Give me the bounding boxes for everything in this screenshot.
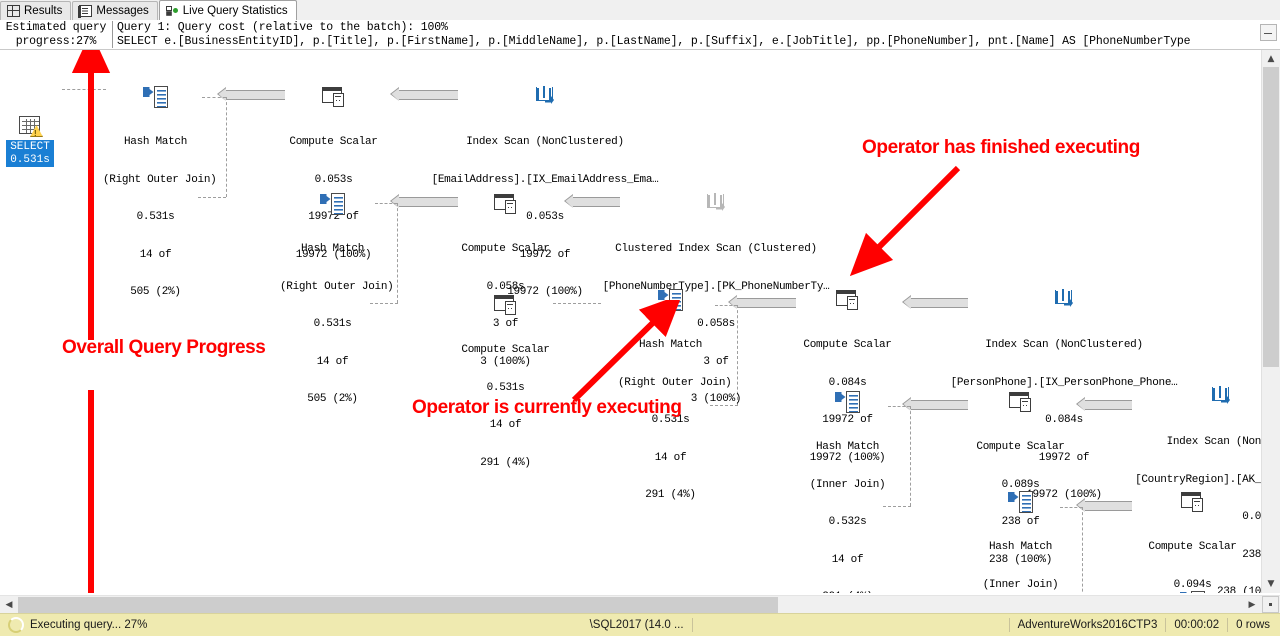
tab-live-query-statistics-label: Live Query Statistics bbox=[183, 5, 288, 17]
clustered-index-scan-icon bbox=[703, 192, 729, 216]
warning-badge-icon: ! bbox=[34, 129, 37, 138]
node-title: Hash Match bbox=[280, 243, 385, 256]
status-divider bbox=[692, 618, 693, 632]
grid-icon bbox=[7, 5, 20, 17]
node-time: 0.532s bbox=[795, 516, 900, 529]
node-title: Compute Scalar bbox=[1140, 541, 1245, 554]
hash-match-icon bbox=[320, 192, 346, 216]
node-title: Clustered Index Scan (Clustered) bbox=[594, 243, 838, 256]
select-node-label: SELECT 0.531s bbox=[6, 140, 54, 167]
node-rows: 14 of bbox=[280, 356, 385, 369]
compute-scalar-icon bbox=[835, 288, 861, 312]
hash-match-icon bbox=[1008, 490, 1034, 514]
query-cost-line: Query 1: Query cost (relative to the bat… bbox=[117, 21, 448, 34]
index-scan-icon bbox=[532, 85, 558, 109]
select-label: SELECT bbox=[10, 141, 50, 153]
node-subtitle: (Inner Join) bbox=[968, 579, 1073, 592]
hash-match-icon bbox=[1180, 590, 1206, 593]
plan-node-hash-match-4[interactable]: Hash Match (Inner Join) 0.532s 14 of 291… bbox=[795, 365, 900, 593]
node-title: Index Scan (NonClustered) bbox=[421, 136, 669, 149]
status-bar: Executing query... 27% \SQL2017 (14.0 ..… bbox=[0, 613, 1280, 636]
status-elapsed: 00:00:02 bbox=[1174, 619, 1219, 631]
node-total: 505 (2%) bbox=[280, 393, 385, 406]
live-query-stats-icon bbox=[166, 5, 179, 17]
node-total: 291 (4%) bbox=[795, 591, 900, 593]
status-server: \SQL2017 (14.0 ... bbox=[590, 619, 684, 631]
connector bbox=[397, 203, 398, 303]
anno-operator-finished: Operator has finished executing bbox=[862, 137, 1140, 159]
status-state-text: Executing query... 27% bbox=[30, 619, 147, 631]
node-title: Index Scan (NonClustered) bbox=[940, 339, 1188, 352]
node-rows: 14 of bbox=[453, 419, 558, 432]
select-time: 0.531s bbox=[10, 154, 50, 166]
compute-scalar-icon bbox=[493, 293, 519, 317]
node-subtitle: (Right Outer Join) bbox=[280, 281, 385, 294]
hash-match-icon bbox=[835, 390, 861, 414]
node-title: Compute Scalar bbox=[281, 136, 386, 149]
estimated-query-progress: Estimated query progress:27% bbox=[0, 20, 112, 49]
scroll-right-button[interactable]: ▶ bbox=[1244, 597, 1260, 613]
index-scan-icon bbox=[1051, 288, 1077, 312]
estimated-progress-line1: Estimated query bbox=[6, 21, 107, 34]
scroll-corner-button[interactable] bbox=[1262, 596, 1279, 613]
header-divider bbox=[112, 21, 113, 48]
query-text: Query 1: Query cost (relative to the bat… bbox=[117, 20, 1257, 49]
plan-node-hash-match-6[interactable]: Hash Match bbox=[1140, 565, 1245, 593]
operator-executing-arrow bbox=[560, 300, 690, 410]
node-time: 0.531s bbox=[453, 382, 558, 395]
messages-icon bbox=[79, 5, 92, 17]
hash-match-icon bbox=[143, 85, 169, 109]
vertical-scroll-thumb[interactable] bbox=[1263, 67, 1279, 367]
connector-arrow bbox=[225, 90, 285, 100]
plan-node-compute-scalar-3[interactable]: Compute Scalar 0.531s 14 of 291 (4%) bbox=[453, 268, 558, 494]
node-title: Compute Scalar bbox=[453, 344, 558, 357]
node-total: 291 (4%) bbox=[453, 457, 558, 470]
estimated-progress-line2: progress:27% bbox=[16, 35, 96, 48]
index-scan-icon bbox=[1208, 385, 1234, 409]
node-title: Hash Match bbox=[968, 541, 1073, 554]
loading-spinner-icon bbox=[8, 617, 24, 633]
node-title: Compute Scalar bbox=[968, 441, 1073, 454]
node-time: 0.531s bbox=[280, 318, 385, 331]
connector bbox=[910, 406, 911, 506]
node-rows: 14 of bbox=[618, 452, 723, 465]
node-total: 291 (4%) bbox=[618, 489, 723, 502]
node-rows: 14 of bbox=[795, 554, 900, 567]
scroll-up-button[interactable]: ▲ bbox=[1263, 51, 1279, 67]
plan-node-hash-match-2[interactable]: Hash Match (Right Outer Join) 0.531s 14 … bbox=[280, 167, 385, 431]
select-node[interactable]: ! SELECT 0.531s bbox=[6, 115, 54, 167]
query-plan-canvas[interactable]: ! SELECT 0.531s Hash Match (Right Outer … bbox=[0, 50, 1262, 593]
vertical-scrollbar[interactable]: ▲ ▼ bbox=[1261, 50, 1280, 593]
compute-scalar-icon bbox=[1180, 490, 1206, 514]
scroll-left-button[interactable]: ◀ bbox=[1, 597, 17, 613]
operator-finished-arrow bbox=[840, 160, 970, 280]
status-rows: 0 rows bbox=[1236, 619, 1270, 631]
horizontal-scrollbar[interactable]: ◀ ▶ bbox=[0, 595, 1280, 614]
scroll-down-button[interactable]: ▼ bbox=[1263, 576, 1279, 592]
overall-query-progress-arrow-down bbox=[60, 380, 120, 593]
node-title: Compute Scalar bbox=[795, 339, 900, 352]
select-result-icon: ! bbox=[17, 115, 43, 139]
status-divider bbox=[1165, 618, 1166, 632]
horizontal-scroll-thumb[interactable] bbox=[18, 597, 778, 613]
tab-results[interactable]: Results bbox=[0, 1, 71, 20]
compute-scalar-icon bbox=[321, 85, 347, 109]
node-title: Index Scan (NonClu bbox=[1110, 436, 1262, 449]
connector bbox=[226, 97, 227, 197]
results-tab-strip: Results Messages Live Query Statistics bbox=[0, 0, 1280, 21]
tab-messages-label: Messages bbox=[96, 5, 148, 17]
anno-overall-query-progress: Overall Query Progress bbox=[62, 337, 265, 359]
node-subtitle: (Inner Join) bbox=[795, 479, 900, 492]
tab-messages[interactable]: Messages bbox=[72, 1, 157, 20]
query-header: Estimated query progress:27% Query 1: Qu… bbox=[0, 20, 1280, 50]
collapse-button[interactable] bbox=[1260, 24, 1277, 41]
compute-scalar-icon bbox=[1008, 390, 1034, 414]
tab-results-label: Results bbox=[24, 5, 62, 17]
compute-scalar-icon bbox=[493, 192, 519, 216]
status-divider bbox=[1227, 618, 1228, 632]
status-database: AdventureWorks2016CTP3 bbox=[1018, 619, 1158, 631]
tab-live-query-statistics[interactable]: Live Query Statistics bbox=[159, 0, 297, 20]
query-sql-line: SELECT e.[BusinessEntityID], p.[Title], … bbox=[117, 35, 1190, 48]
node-title: Hash Match bbox=[795, 441, 900, 454]
node-title: Compute Scalar bbox=[453, 243, 558, 256]
plan-node-hash-match-5[interactable]: Hash Match (Inner Join) 0.532s 14 of 291… bbox=[968, 465, 1073, 593]
status-divider bbox=[1009, 618, 1010, 632]
